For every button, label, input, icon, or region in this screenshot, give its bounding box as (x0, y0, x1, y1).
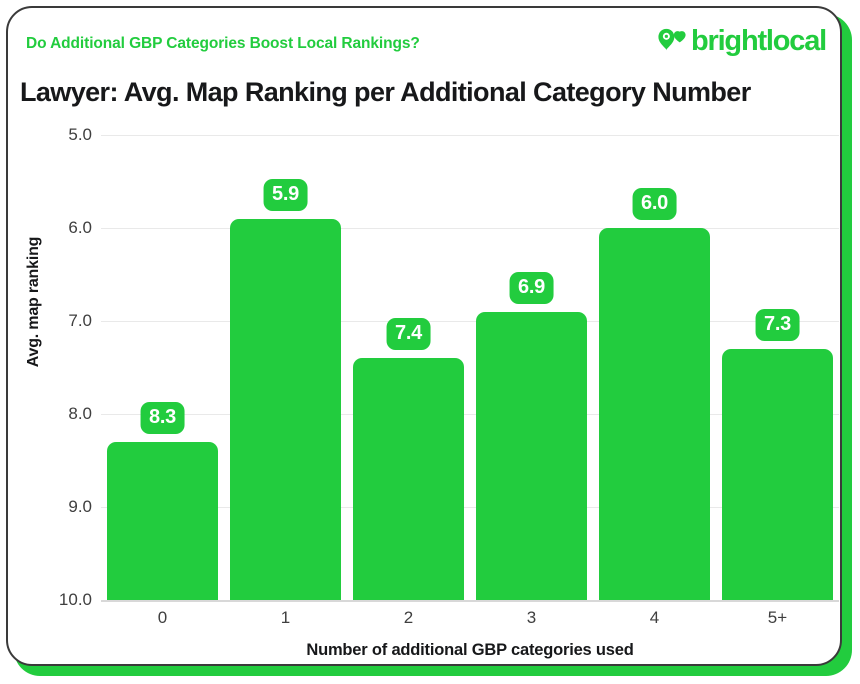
y-tick-label: 9.0 (44, 497, 92, 517)
x-tick-label: 2 (404, 608, 413, 628)
bar[interactable] (230, 219, 341, 600)
plot-region: Avg. map ranking 5.0 6.0 7.0 8.0 9.0 10.… (8, 8, 840, 664)
x-axis-label: Number of additional GBP categories used (101, 641, 839, 660)
bar[interactable] (107, 442, 218, 600)
x-tick-label: 0 (158, 608, 167, 628)
bar-value-label: 7.4 (386, 318, 431, 350)
x-tick-label: 3 (527, 608, 536, 628)
chart-card: Do Additional GBP Categories Boost Local… (6, 6, 842, 666)
bar-value-label: 6.9 (509, 272, 554, 304)
bar[interactable] (722, 349, 833, 600)
screenshot-root: Do Additional GBP Categories Boost Local… (0, 0, 860, 684)
x-axis-line (101, 600, 839, 602)
gridline (101, 228, 839, 229)
bar-value-label: 8.3 (140, 402, 185, 434)
x-tick-label: 5+ (768, 608, 787, 628)
bar-value-label: 7.3 (755, 309, 800, 341)
y-tick-label: 7.0 (44, 311, 92, 331)
bar[interactable] (353, 358, 464, 600)
y-tick-label: 10.0 (44, 590, 92, 610)
y-axis-label: Avg. map ranking (25, 222, 43, 382)
y-tick-label: 6.0 (44, 218, 92, 238)
y-tick-label: 5.0 (44, 125, 92, 145)
bar[interactable] (476, 312, 587, 600)
bar[interactable] (599, 228, 710, 600)
gridline (101, 135, 839, 136)
bar-value-label: 6.0 (632, 188, 677, 220)
x-tick-label: 1 (281, 608, 290, 628)
gridline (101, 321, 839, 322)
y-tick-label: 8.0 (44, 404, 92, 424)
bar-value-label: 5.9 (263, 179, 308, 211)
x-tick-label: 4 (650, 608, 659, 628)
